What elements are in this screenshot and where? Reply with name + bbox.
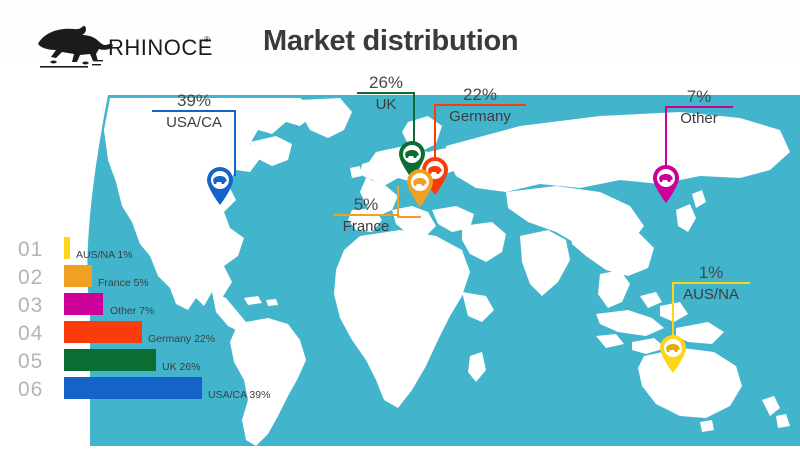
callout-aus-na[interactable]: 1% AUS/NA [672,264,750,305]
brand-name-text: RHINOCEROS [108,35,212,60]
legend-label-uk: UK 26% [162,361,201,373]
callout-uk-leader [413,94,415,146]
callout-aus-na-percent: 1% [672,264,750,282]
legend-row[interactable]: 02 France 5% [18,264,278,292]
legend-index: 03 [18,294,43,318]
callout-other[interactable]: 7% Other [665,88,733,129]
callout-usa-ca[interactable]: 39% USA/CA [152,92,236,133]
callout-uk-label: UK [357,94,415,115]
callout-germany-percent: 22% [434,86,526,104]
legend-label-usa-ca: USA/CA 39% [208,389,270,401]
legend-row[interactable]: 05 UK 26% [18,348,278,376]
legend-label-aus-na: AUS/NA 1% [76,249,133,261]
legend-label-other: Other 7% [110,305,154,317]
callout-usa-ca-percent: 39% [152,92,236,110]
legend-index: 05 [18,350,43,374]
legend-index: 06 [18,378,43,402]
callout-aus-na-leader [672,284,674,340]
marker-other[interactable] [651,164,681,204]
legend-row[interactable]: 06 USA/CA 39% [18,376,278,404]
callout-france-percent: 5% [333,196,399,214]
page-title: Market distribution [263,25,518,58]
callout-france-label: France [333,216,399,237]
callout-other-leader [665,108,667,170]
callout-uk-percent: 26% [357,74,415,92]
legend-bar-chart: 01 AUS/NA 1% 02 France 5% 03 Other 7% 04… [18,236,278,404]
callout-france-connector [397,216,421,218]
legend-row[interactable]: 04 Germany 22% [18,320,278,348]
legend-label-germany: Germany 22% [148,333,215,345]
rhino-icon [38,26,113,68]
legend-row[interactable]: 03 Other 7% [18,292,278,320]
legend-index: 02 [18,266,43,290]
legend-bar-other [64,293,103,315]
legend-row[interactable]: 01 AUS/NA 1% [18,236,278,264]
legend-bar-usa-ca [64,377,202,399]
legend-index: 01 [18,238,43,262]
trademark-symbol: ® [204,35,210,44]
legend-bar-germany [64,321,142,343]
callout-germany-leader [434,106,436,162]
callout-france-leader [397,186,399,218]
marker-aus-na[interactable] [658,334,688,374]
legend-bar-aus-na [64,237,70,259]
callout-aus-na-label: AUS/NA [672,284,750,305]
callout-usa-ca-label: USA/CA [152,112,236,133]
legend-bar-france [64,265,92,287]
infographic-canvas: RHINOCEROS ® Market distribution 39% USA… [0,0,800,449]
marker-france[interactable] [405,168,435,208]
marker-usa-ca[interactable] [205,166,235,206]
callout-other-label: Other [665,108,733,129]
callout-uk[interactable]: 26% UK [357,74,415,115]
legend-bar-uk [64,349,156,371]
callout-germany[interactable]: 22% Germany [434,86,526,127]
callout-other-percent: 7% [665,88,733,106]
legend-label-france: France 5% [98,277,149,289]
brand-logo: RHINOCEROS ® [32,18,212,70]
legend-index: 04 [18,322,43,346]
callout-germany-label: Germany [434,106,526,127]
callout-france[interactable]: 5% France [333,196,399,237]
